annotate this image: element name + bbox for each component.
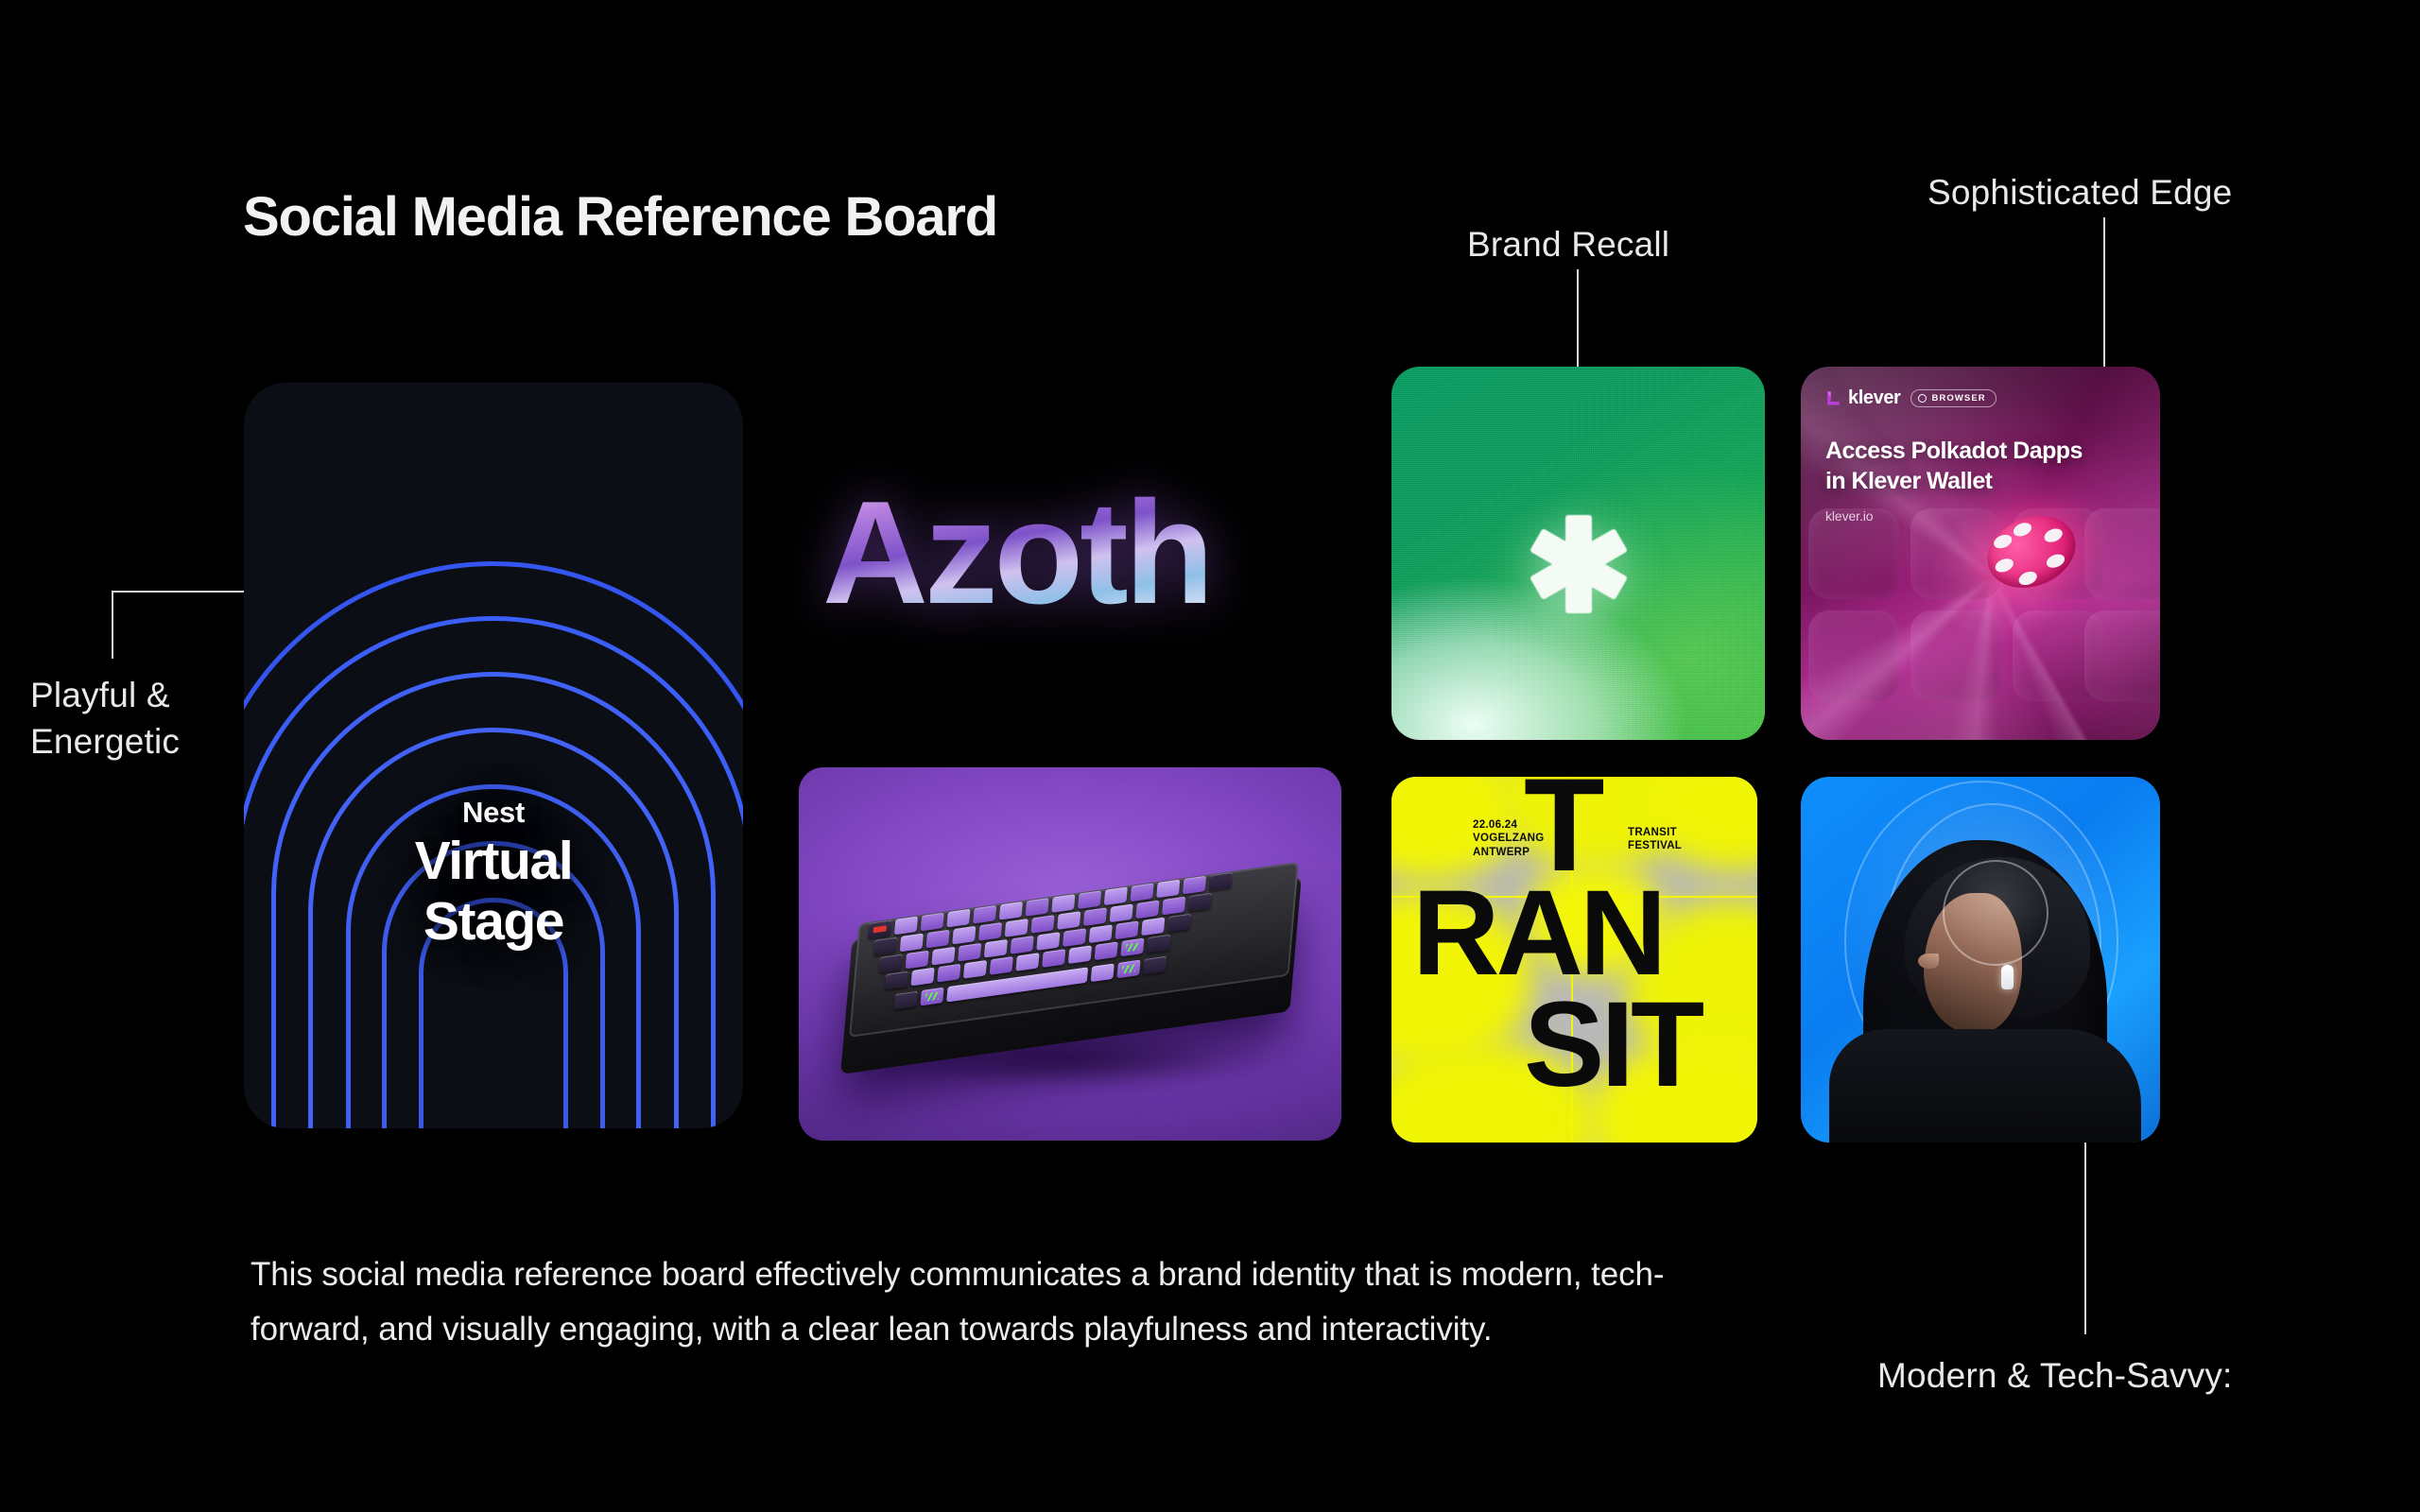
azoth-wordmark-text: Azoth (822, 472, 1361, 633)
concentric-rings-graphic (244, 383, 743, 1128)
klever-url: klever.io (1825, 508, 1873, 524)
nest-title-line1: Virtual (244, 833, 743, 890)
transit-city: ANTWERP (1473, 846, 1545, 859)
nest-card-copy: Nest Virtual Stage (244, 796, 743, 951)
transit-meta-right: TRANSIT FESTIVAL (1628, 826, 1682, 853)
nest-title-line2: Stage (244, 894, 743, 951)
klever-logo: klever (1825, 387, 1900, 409)
annotation-modern-tech-savvy: Modern & Tech-Savvy: (1877, 1353, 2233, 1400)
klever-headline-line1: Access Polkadot Dapps (1825, 437, 2083, 467)
annotation-playful-line2: Energetic (30, 719, 180, 765)
klever-mark-icon (1825, 390, 1841, 406)
person-shoulder (1829, 1029, 2141, 1143)
page-title: Social Media Reference Board (243, 185, 997, 249)
klever-browser-badge: BROWSER (1910, 389, 1996, 407)
blue-portrait-card[interactable] (1801, 777, 2160, 1143)
klever-headline-line2: in Klever Wallet (1825, 467, 2083, 497)
transit-event-name: TRANSIT (1628, 826, 1682, 839)
globe-icon (1918, 394, 1927, 403)
transit-big-line2: RAN (1412, 885, 1663, 984)
transit-big-line3: SIT (1524, 996, 1701, 1095)
transit-meta-left: 22.06.24 VOGELZANG ANTWERP (1473, 818, 1545, 859)
green-asterisk-card[interactable] (1391, 367, 1765, 740)
klever-card[interactable]: klever BROWSER Access Polkadot Dapps in … (1801, 367, 2160, 740)
annotation-playful-energetic: Playful & Energetic (30, 673, 180, 765)
summary-paragraph: This social media reference board effect… (251, 1247, 1725, 1357)
annotation-sophisticated-edge: Sophisticated Edge (1927, 170, 2232, 216)
nest-virtual-stage-card[interactable]: Nest Virtual Stage (244, 383, 743, 1128)
transit-festival-card[interactable]: 22.06.24 VOGELZANG ANTWERP TRANSIT FESTI… (1391, 777, 1757, 1143)
purple-keyboard-card[interactable] (799, 767, 1341, 1141)
transit-date: 22.06.24 (1473, 818, 1545, 832)
klever-brand-name: klever (1848, 387, 1900, 409)
annotation-brand-recall: Brand Recall (1467, 222, 1669, 268)
asterisk-icon (1527, 512, 1631, 616)
halo-ring-ear (1943, 860, 2048, 966)
transit-venue: VOGELZANG (1473, 832, 1545, 845)
annotation-playful-line1: Playful & (30, 673, 180, 719)
nest-eyebrow: Nest (244, 796, 743, 830)
leader-line-playful-vertical (112, 591, 113, 659)
person-profile-nose (1918, 954, 1939, 969)
klever-headline: Access Polkadot Dapps in Klever Wallet (1825, 437, 2083, 496)
klever-card-header: klever BROWSER (1825, 387, 1996, 409)
earbud-icon (2001, 965, 2014, 989)
azoth-wordmark-card[interactable]: Azoth (822, 472, 1361, 633)
transit-event-type: FESTIVAL (1628, 839, 1682, 852)
light-rays-graphic (1801, 367, 2160, 740)
klever-badge-label: BROWSER (1931, 393, 1985, 404)
